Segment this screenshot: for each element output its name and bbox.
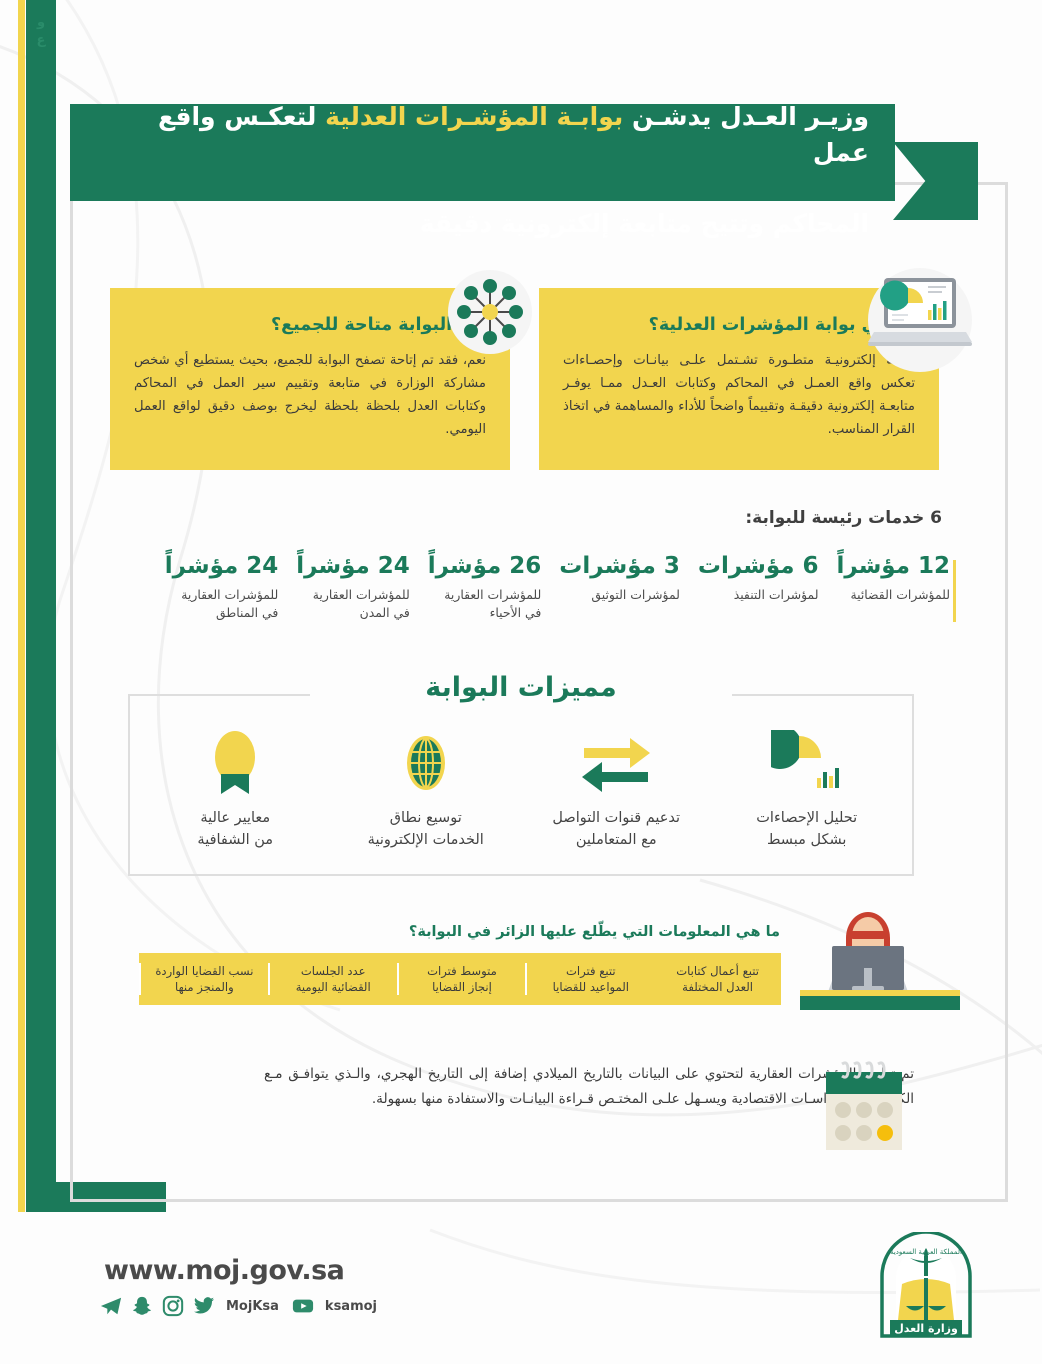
- card-body: بوابـة إلكترونيـة متطـورة تشـتمل علـى بي…: [563, 349, 915, 441]
- services-heading: 6 خدمات رئيسة للبوابة:: [745, 508, 942, 528]
- website-url[interactable]: www.moj.gov.sa: [104, 1255, 344, 1286]
- frame-green-bar: [26, 0, 56, 1212]
- stat-number: 26 مؤشراً: [428, 552, 542, 581]
- features-title: مميزات البوابة: [0, 672, 1042, 703]
- stat-description: للمؤشرات العقارية في الأحياء: [428, 586, 542, 622]
- svg-text:وزارة العدل: وزارة العدل: [894, 1322, 958, 1335]
- stat-number: 24 مؤشراً: [296, 552, 410, 581]
- feature-label: تحليل الإحصاءات بشكل مبسط: [722, 808, 892, 852]
- stat-item: 24 مؤشراً للمؤشرات العقارية في المدن: [278, 552, 410, 648]
- stat-description: للمؤشرات العقارية في المناطق: [165, 586, 279, 622]
- info-item: تتبع فترات المواعيد للقضايا: [525, 963, 654, 996]
- feature-item: تحليل الإحصاءات بشكل مبسط: [722, 726, 892, 852]
- card-body: نعم، فقد تم إتاحة تصفح البوابة للجميع، ب…: [134, 349, 486, 441]
- info-item: عدد الجلسات القضائية اليومية: [268, 963, 397, 996]
- youtube-handle: ksamoj: [325, 1299, 377, 1314]
- medal-ribbon-icon: [150, 726, 320, 800]
- note-text: تم تطوير المؤشرات العقارية لتحتوي على ال…: [264, 1062, 914, 1112]
- feature-item: توسيع نطاق الخدمات الإلكترونية: [341, 726, 511, 852]
- exchange-arrows-icon: [531, 726, 701, 800]
- features-row: معايير عالية من الشفافية توسيع نطاق الخد…: [140, 726, 902, 886]
- feature-label: معايير عالية من الشفافية: [150, 808, 320, 852]
- stat-item: 26 مؤشراً للمؤشرات العقارية في الأحياء: [410, 552, 542, 648]
- banner-line2: المحاكم وتتيح متابعة إلكترونية دقيقة: [420, 209, 869, 238]
- stats-row: 12 مؤشراً للمؤشرات القضائية 6 مؤشرات لمؤ…: [90, 552, 950, 648]
- stat-number: 24 مؤشراً: [165, 552, 279, 581]
- pie-bar-chart-icon: [722, 726, 892, 800]
- stat-description: للمؤشرات القضائية: [837, 586, 951, 604]
- stat-description: لمؤشرات التنفيذ: [698, 586, 819, 604]
- info-item: متوسط فترات إنجاز القضايا: [397, 963, 526, 996]
- banner-line1-before: وزيـر العـدل يدشـن: [623, 102, 869, 131]
- stat-description: لمؤشرات التوثيق: [559, 586, 680, 604]
- person-at-computer-illustration: [800, 898, 960, 1010]
- stat-number: 6 مؤشرات: [698, 552, 819, 581]
- stat-item: 3 مؤشرات لمؤشرات التوثيق: [541, 552, 680, 648]
- twitter-handle: MojKsa: [226, 1299, 279, 1314]
- info-item: نسب القضايا الواردة والمنجز منها: [139, 963, 268, 996]
- banner-highlight: بوابـة المؤشـرات العدلية: [325, 102, 623, 131]
- youtube-icon[interactable]: [292, 1295, 314, 1317]
- laptop-chart-icon: [862, 270, 978, 362]
- stat-item: 12 مؤشراً للمؤشرات القضائية: [819, 552, 951, 648]
- page-title: وزيـر العـدل يدشـن بوابـة المؤشـرات العد…: [100, 64, 869, 242]
- social-links: MojKsa ksamoj: [100, 1295, 381, 1317]
- stat-description: للمؤشرات العقارية في المدن: [296, 586, 410, 622]
- feature-item: معايير عالية من الشفافية: [150, 726, 320, 852]
- calendar-icon: [818, 1058, 910, 1158]
- twitter-icon[interactable]: [193, 1295, 215, 1317]
- svg-text:ع: ع: [37, 33, 47, 48]
- svg-text:و: و: [36, 15, 45, 30]
- frame-yellow-stripe: [18, 0, 25, 1212]
- stat-item: 24 مؤشراً للمؤشرات العقارية في المناطق: [147, 552, 279, 648]
- visitor-question: ما هي المعلومات التي يطّلع عليها الزائر …: [409, 924, 780, 940]
- stat-number: 3 مؤشرات: [559, 552, 680, 581]
- svg-text:المملكة العربية السعودية: المملكة العربية السعودية: [890, 1248, 962, 1256]
- stat-item: 6 مؤشرات لمؤشرات التنفيذ: [680, 552, 819, 648]
- globe-icon: [341, 726, 511, 800]
- info-item: تتبع أعمال كتابات العدل المختلفة: [654, 963, 781, 996]
- snapchat-icon[interactable]: [131, 1295, 153, 1317]
- corner-mark-icon: و ع: [28, 10, 54, 56]
- visitor-info-bar: نسب القضايا الواردة والمنجز منها عدد الج…: [139, 953, 781, 1005]
- telegram-icon[interactable]: [100, 1295, 122, 1317]
- feature-label: تدعيم قنوات التواصل مع المتعاملين: [531, 808, 701, 852]
- ministry-of-justice-logo: المملكة العربية السعودية وزارة العدل: [862, 1232, 990, 1342]
- network-hub-icon: [448, 270, 532, 354]
- feature-label: توسيع نطاق الخدمات الإلكترونية: [341, 808, 511, 852]
- instagram-icon[interactable]: [162, 1295, 184, 1317]
- stat-number: 12 مؤشراً: [837, 552, 951, 581]
- banner-ribbon-tail: [893, 142, 978, 220]
- card-title: هل البوابة متاحة للجميع؟: [134, 314, 486, 337]
- infographic-page: و ع وزيـر العـدل يدشـن بوابـة المؤشـرات …: [0, 0, 1042, 1364]
- header-banner: وزيـر العـدل يدشـن بوابـة المؤشـرات العد…: [70, 104, 895, 201]
- stats-accent-bar: [953, 560, 956, 622]
- feature-item: تدعيم قنوات التواصل مع المتعاملين: [531, 726, 701, 852]
